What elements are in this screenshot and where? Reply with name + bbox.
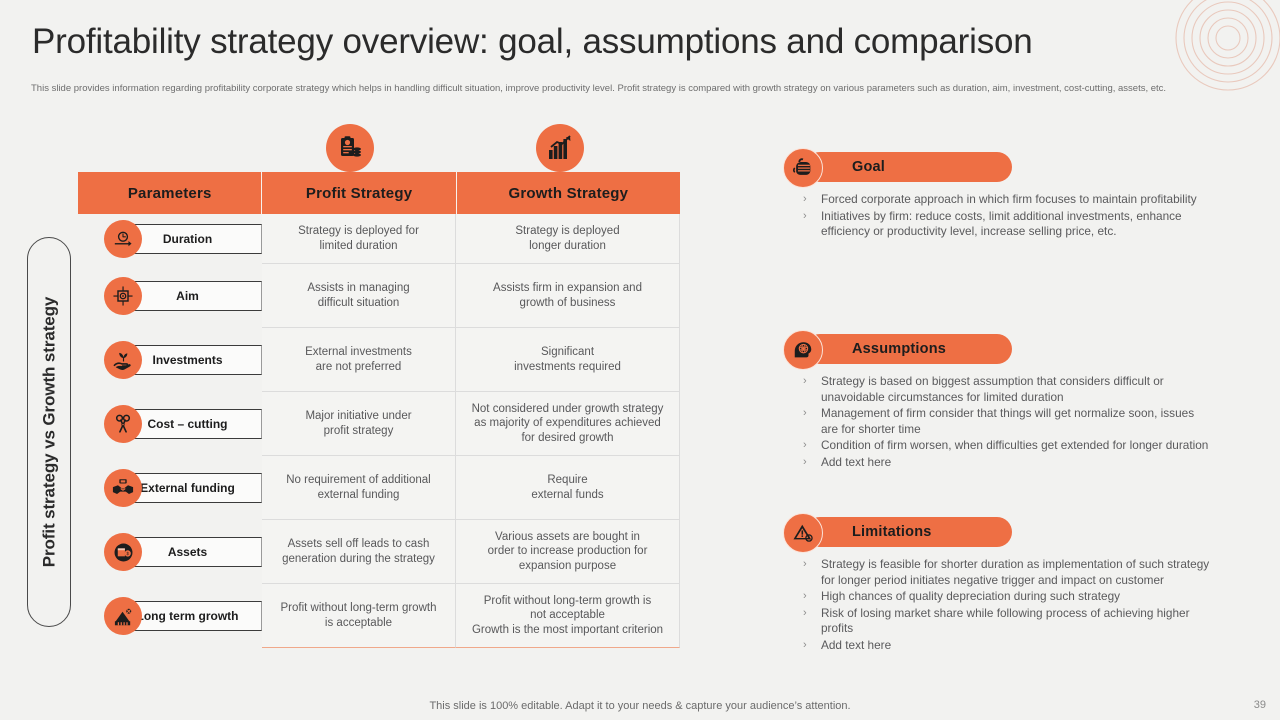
table-cell-growth-strategy: Requireexternal funds <box>456 456 680 520</box>
parameter-label: Cost – cutting <box>148 417 228 431</box>
table-cell-profit-strategy-text: External investmentsare not preferred <box>305 345 412 374</box>
vertical-section-label-text: Profit strategy vs Growth strategy <box>39 297 59 568</box>
chevron-right-icon: › <box>803 406 821 437</box>
table-cell-profit-strategy: Assists in managingdifficult situation <box>262 264 456 328</box>
list-item: ›Strategy is feasible for shorter durati… <box>803 557 1213 588</box>
table-cell-profit-strategy: Profit without long-term growthis accept… <box>262 584 456 648</box>
target-aim-icon <box>104 277 142 315</box>
chevron-right-icon: › <box>803 557 821 588</box>
list-item: ›Condition of firm worsen, when difficul… <box>803 438 1213 454</box>
clock-duration-icon <box>104 220 142 258</box>
panel-title: Goal <box>852 159 885 175</box>
table-cell-profit-strategy-text: Major initiative underprofit strategy <box>305 409 411 438</box>
table-cell-parameter: External funding <box>78 456 262 520</box>
fist-goal-icon <box>783 148 823 188</box>
panel-header-goal: Goal <box>783 152 1213 182</box>
table-cell-growth-strategy: Not considered under growth strategyas m… <box>456 392 680 456</box>
chevron-right-icon: › <box>803 638 821 654</box>
page-title: Profitability strategy overview: goal, a… <box>32 22 1033 62</box>
panel-title-pill: Assumptions <box>805 334 1012 364</box>
panel-bullet-list: ›Strategy is based on biggest assumption… <box>783 374 1213 470</box>
table-cell-profit-strategy: Assets sell off leads to cashgeneration … <box>262 520 456 584</box>
table-cell-growth-strategy-text: Various assets are bought inorder to inc… <box>488 530 648 574</box>
page-subtitle: This slide provides information regardin… <box>31 82 1236 95</box>
list-item-text: Condition of firm worsen, when difficult… <box>821 438 1213 454</box>
panel-bullet-list: ›Forced corporate approach in which firm… <box>783 192 1213 240</box>
hand-plant-investment-icon <box>104 341 142 379</box>
list-item-text: Add text here <box>821 638 1213 654</box>
list-item: ›Forced corporate approach in which firm… <box>803 192 1213 208</box>
table-cell-parameter: Aim <box>78 264 262 328</box>
panel-header-limitations: Limitations <box>783 517 1213 547</box>
list-item-text: Strategy is based on biggest assumption … <box>821 374 1213 405</box>
table-header-growth-strategy: Growth Strategy <box>457 172 680 214</box>
table-cell-growth-strategy-text: Profit without long-term growth isnot ac… <box>472 594 663 638</box>
panel-title: Limitations <box>852 524 932 540</box>
table-cell-growth-strategy-text: Assists firm in expansion andgrowth of b… <box>493 281 642 310</box>
table-cell-growth-strategy: Strategy is deployedlonger duration <box>456 214 680 264</box>
list-item: ›Strategy is based on biggest assumption… <box>803 374 1213 405</box>
table-cell-growth-strategy: Various assets are bought inorder to inc… <box>456 520 680 584</box>
table-row: Cost – cuttingMajor initiative underprof… <box>78 392 680 456</box>
parameter-label: Aim <box>176 289 199 303</box>
growth-bar-chart-icon <box>536 124 584 172</box>
table-cell-growth-strategy: Significantinvestments required <box>456 328 680 392</box>
parameter-label: Duration <box>163 232 212 246</box>
table-cell-growth-strategy-text: Significantinvestments required <box>514 345 621 374</box>
parameter-label: Assets <box>168 545 207 559</box>
parameter-label: External funding <box>140 481 235 495</box>
handshake-funding-icon <box>104 469 142 507</box>
chevron-right-icon: › <box>803 455 821 471</box>
list-item: ›Initiatives by firm: reduce costs, limi… <box>803 209 1213 240</box>
list-item: ›Add text here <box>803 455 1213 471</box>
list-item: ›High chances of quality depreciation du… <box>803 589 1213 605</box>
long-term-growth-icon <box>104 597 142 635</box>
comparison-table: Parameters Profit Strategy Growth Strate… <box>78 172 680 648</box>
table-row: External fundingNo requirement of additi… <box>78 456 680 520</box>
panel-bullet-list: ›Strategy is feasible for shorter durati… <box>783 557 1213 653</box>
table-cell-parameter: Assets$ <box>78 520 262 584</box>
scissors-cost-cutting-icon <box>104 405 142 443</box>
panel-goal: Goal›Forced corporate approach in which … <box>783 152 1213 241</box>
table-cell-profit-strategy-text: No requirement of additionalexternal fun… <box>286 473 430 502</box>
parameter-label: Long term growth <box>137 609 239 623</box>
table-cell-profit-strategy: Strategy is deployed forlimited duration <box>262 214 456 264</box>
head-brain-icon <box>783 330 823 370</box>
table-row: InvestmentsExternal investmentsare not p… <box>78 328 680 392</box>
footer-note: This slide is 100% editable. Adapt it to… <box>0 700 1280 712</box>
panel-title-pill: Limitations <box>805 517 1012 547</box>
slide-canvas: Profitability strategy overview: goal, a… <box>0 0 1280 720</box>
chevron-right-icon: › <box>803 374 821 405</box>
table-cell-profit-strategy-text: Strategy is deployed forlimited duration <box>298 224 419 253</box>
parameter-label: Investments <box>152 353 222 367</box>
list-item-text: Add text here <box>821 455 1213 471</box>
list-item-text: Risk of losing market share while follow… <box>821 606 1213 637</box>
table-cell-profit-strategy: Major initiative underprofit strategy <box>262 392 456 456</box>
panel-title-pill: Goal <box>805 152 1012 182</box>
table-header-parameters: Parameters <box>78 172 262 214</box>
page-number: 39 <box>1254 699 1266 711</box>
table-row: Long term growthProfit without long-term… <box>78 584 680 648</box>
table-cell-profit-strategy-text: Assists in managingdifficult situation <box>307 281 409 310</box>
list-item-text: Management of firm consider that things … <box>821 406 1213 437</box>
list-item-text: Forced corporate approach in which firm … <box>821 192 1213 208</box>
chevron-right-icon: › <box>803 589 821 605</box>
vertical-section-label: Profit strategy vs Growth strategy <box>27 237 71 627</box>
chevron-right-icon: › <box>803 209 821 240</box>
table-body: DurationStrategy is deployed forlimited … <box>78 214 680 648</box>
list-item: ›Add text here <box>803 638 1213 654</box>
table-cell-growth-strategy: Profit without long-term growth isnot ac… <box>456 584 680 648</box>
table-header-profit-strategy: Profit Strategy <box>262 172 456 214</box>
chevron-right-icon: › <box>803 606 821 637</box>
table-cell-parameter: Cost – cutting <box>78 392 262 456</box>
table-cell-growth-strategy-text: Not considered under growth strategyas m… <box>472 402 664 446</box>
assets-box-icon: $ <box>104 533 142 571</box>
table-header-row: Parameters Profit Strategy Growth Strate… <box>78 172 680 214</box>
table-cell-growth-strategy: Assists firm in expansion andgrowth of b… <box>456 264 680 328</box>
table-row: AimAssists in managingdifficult situatio… <box>78 264 680 328</box>
panel-header-assumptions: Assumptions <box>783 334 1213 364</box>
list-item-text: High chances of quality depreciation dur… <box>821 589 1213 605</box>
panel-assumptions: Assumptions›Strategy is based on biggest… <box>783 334 1213 471</box>
list-item: ›Management of firm consider that things… <box>803 406 1213 437</box>
panel-title: Assumptions <box>852 341 946 357</box>
table-cell-growth-strategy-text: Requireexternal funds <box>531 473 603 502</box>
table-cell-profit-strategy: No requirement of additionalexternal fun… <box>262 456 456 520</box>
table-cell-profit-strategy: External investmentsare not preferred <box>262 328 456 392</box>
clipboard-money-icon <box>326 124 374 172</box>
table-cell-profit-strategy-text: Profit without long-term growthis accept… <box>281 601 437 630</box>
panel-limitations: Limitations›Strategy is feasible for sho… <box>783 517 1213 654</box>
table-cell-growth-strategy-text: Strategy is deployedlonger duration <box>515 224 619 253</box>
chevron-right-icon: › <box>803 438 821 454</box>
chevron-right-icon: › <box>803 192 821 208</box>
table-cell-profit-strategy-text: Assets sell off leads to cashgeneration … <box>282 537 435 566</box>
table-row: DurationStrategy is deployed forlimited … <box>78 214 680 264</box>
list-item-text: Strategy is feasible for shorter duratio… <box>821 557 1213 588</box>
table-cell-parameter: Investments <box>78 328 262 392</box>
table-cell-parameter: Long term growth <box>78 584 262 648</box>
list-item-text: Initiatives by firm: reduce costs, limit… <box>821 209 1213 240</box>
table-cell-parameter: Duration <box>78 214 262 264</box>
warning-triangle-icon <box>783 513 823 553</box>
table-row: Assets$Assets sell off leads to cashgene… <box>78 520 680 584</box>
list-item: ›Risk of losing market share while follo… <box>803 606 1213 637</box>
